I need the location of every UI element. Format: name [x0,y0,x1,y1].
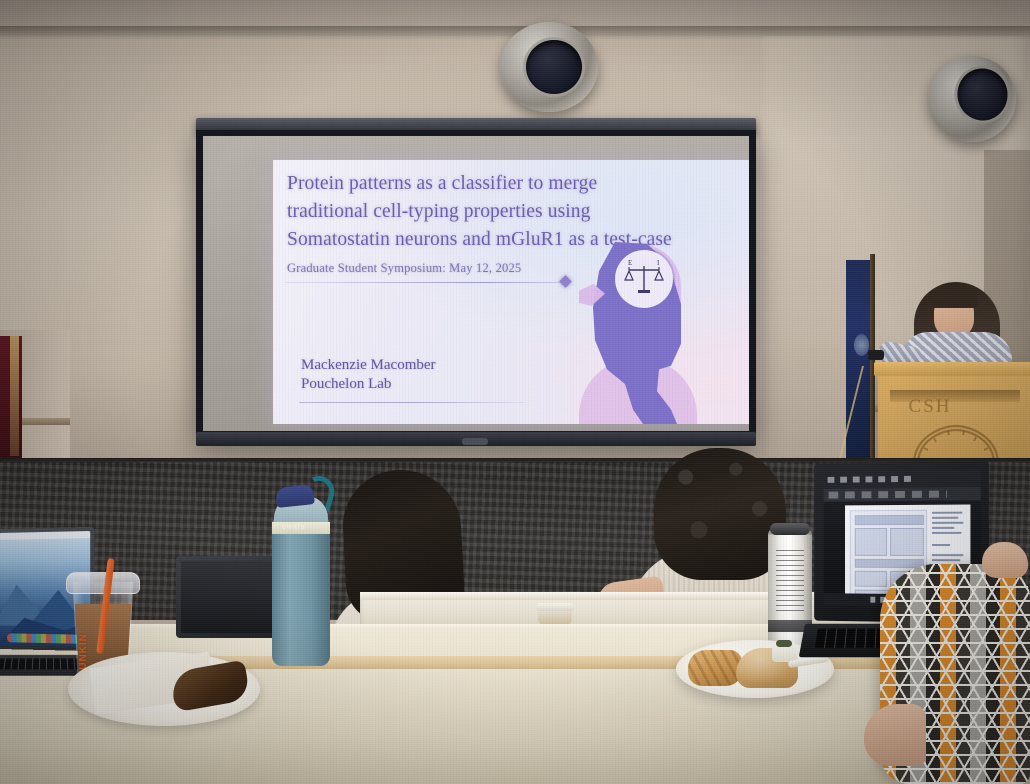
podium-emblem-text: CSH [878,396,982,418]
titlebar-controls [828,476,916,483]
owala-water-bottle: owala [268,478,336,666]
scale-label-e: E [628,259,632,267]
ceiling-vent-icon [500,22,598,112]
paper-plate-left [68,652,260,726]
foreground-person-hand [982,542,1028,578]
slide-author-name: Mackenzie Macomber [301,356,436,375]
app-ribbon-toolbar [824,487,981,501]
projection-screen: Protein patterns as a classifier to merg… [196,126,756,446]
text-line [932,517,958,519]
ceiling-vent-right-icon [922,50,1021,147]
screen-frame: Protein patterns as a classifier to merg… [196,130,756,440]
slide-lab-name: Pouchelon Lab [301,375,436,394]
figure-block [855,515,924,525]
cup-lid [536,603,574,611]
scale-label-i: I [657,259,660,267]
screen-surface: Protein patterns as a classifier to merg… [203,136,749,431]
can-top [770,523,810,535]
vent-bore [526,40,582,94]
slide-divider-top [285,282,567,283]
macos-menubar [0,531,90,540]
flag-trim [10,336,19,456]
foreground-person-arm [864,704,926,766]
brain-circle: E I [615,250,673,308]
podium-top-ledge [874,362,1030,376]
photo-scene: Protein patterns as a classifier to merg… [0,0,1030,784]
balance-scale-icon: E I [623,258,665,300]
presentation-clicker [868,350,884,360]
cream-cheese-lid [776,640,792,647]
head-brain-icon: E I [571,240,703,424]
slide-author-block: Mackenzie Macomber Pouchelon Lab [301,356,436,394]
text-line [932,527,954,529]
window-titlebar [824,470,981,489]
projected-slide: Protein patterns as a classifier to merg… [273,160,749,424]
presenter-hair-front [930,286,978,308]
slide-title-line-1: Protein patterns as a classifier to merg… [287,170,749,198]
text-line [932,522,963,524]
foreground-person [872,536,1030,784]
ribbon-buttons [829,491,948,499]
text-line [932,512,962,514]
slide-title-line-2: traditional cell-typing properties using [287,198,749,226]
audience-hair [654,448,786,580]
nutrition-facts-panel [776,550,804,612]
text-line [932,532,961,534]
flag-seal [854,334,869,356]
slide-divider-bottom [299,402,525,403]
bottle-body [272,518,330,666]
small-cup [538,607,572,625]
bottle-brand-text: owala [282,524,322,533]
screen-pull-knob [462,438,488,445]
croissant [688,650,742,686]
diamond-icon [559,275,572,288]
